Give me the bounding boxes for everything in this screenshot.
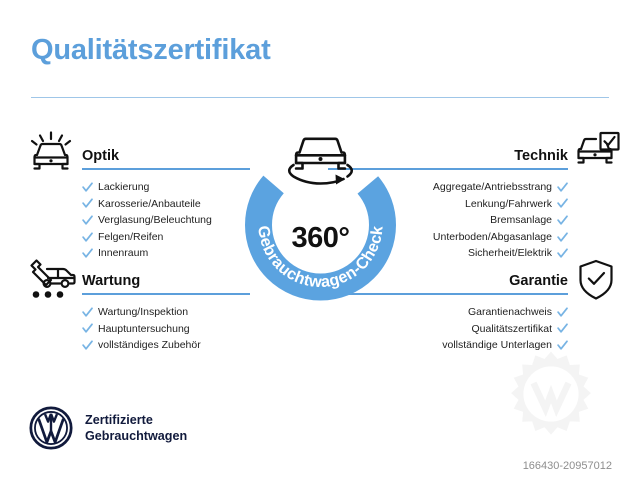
list-item-label: Karosserie/Anbauteile [98, 196, 201, 213]
list-item-label: Garantienachweis [468, 304, 552, 321]
check-icon [557, 215, 568, 226]
check-icon [557, 340, 568, 351]
section-wartung-divider [82, 293, 250, 295]
check-icon [557, 307, 568, 318]
list-item: Verglasung/Beleuchtung [82, 212, 250, 229]
list-item: Wartung/Inspektion [82, 304, 250, 321]
check-icon [82, 215, 93, 226]
list-item-label: Aggregate/Antriebsstrang [433, 179, 552, 196]
list-item-label: Bremsanlage [490, 212, 552, 229]
list-item-label: Hauptuntersuchung [98, 321, 190, 338]
car-checkbox-icon [569, 131, 621, 178]
list-item: Felgen/Reifen [82, 229, 250, 246]
check-icon [82, 198, 93, 209]
check-icon [82, 248, 93, 259]
brand-line-1: Zertifizierte [85, 413, 153, 427]
section-optik: Optik Lackierung Karosserie/Anbauteile V… [82, 144, 250, 262]
title-divider [31, 97, 609, 98]
check-icon [82, 323, 93, 334]
list-item-label: Verglasung/Beleuchtung [98, 212, 212, 229]
check-icon [82, 340, 93, 351]
list-item: Karosserie/Anbauteile [82, 196, 250, 213]
list-item-label: Qualitätszertifikat [471, 321, 552, 338]
section-optik-header: Optik [82, 144, 250, 170]
shield-check-icon [576, 258, 616, 307]
section-wartung-list: Wartung/Inspektion Hauptuntersuchung vol… [82, 304, 250, 354]
list-item: Innenraum [82, 245, 250, 262]
car-front-lights-icon [27, 131, 75, 178]
list-item-label: Sicherheit/Elektrik [468, 245, 552, 262]
section-garantie-title: Garantie [509, 273, 568, 289]
volkswagen-brand-block: Zertifizierte Gebrauchtwagen [29, 406, 187, 450]
section-wartung-header: Wartung [82, 269, 250, 295]
check-icon [557, 182, 568, 193]
section-wartung: Wartung Wartung/Inspektion Hauptuntersuc… [82, 269, 250, 354]
badge-360-gebrauchtwagen-check: Gebrauchtwagen-Check 360° [233, 120, 408, 310]
reference-id: 166430-20957012 [523, 460, 612, 472]
check-icon [557, 323, 568, 334]
section-wartung-title: Wartung [82, 273, 140, 289]
check-icon [557, 198, 568, 209]
list-item: Hauptuntersuchung [82, 321, 250, 338]
list-item: vollständiges Zubehör [82, 337, 250, 354]
list-item: vollständige Unterlagen [328, 337, 568, 354]
section-optik-title: Optik [82, 148, 119, 164]
list-item-label: Lackierung [98, 179, 149, 196]
check-icon [557, 248, 568, 259]
section-technik-title: Technik [514, 148, 568, 164]
list-item-label: Innenraum [98, 245, 148, 262]
check-icon [82, 232, 93, 243]
check-icon [82, 182, 93, 193]
section-optik-list: Lackierung Karosserie/Anbauteile Verglas… [82, 179, 250, 262]
list-item-label: Wartung/Inspektion [98, 304, 188, 321]
watermark-logo [505, 348, 597, 440]
volkswagen-logo [29, 406, 73, 450]
check-icon [557, 232, 568, 243]
brand-line-2: Gebrauchtwagen [85, 429, 187, 443]
check-icon [82, 307, 93, 318]
brand-text: Zertifizierte Gebrauchtwagen [85, 412, 187, 444]
list-item-label: Felgen/Reifen [98, 229, 163, 246]
list-item-label: Lenkung/Fahrwerk [465, 196, 552, 213]
list-item: Qualitätszertifikat [328, 321, 568, 338]
page-title: Qualitätszertifikat [31, 34, 271, 67]
section-optik-divider [82, 168, 250, 170]
badge-360-label: 360° [233, 222, 408, 255]
section-garantie-list: Garantienachweis Qualitätszertifikat vol… [328, 304, 568, 354]
car-service-tool-icon [27, 257, 77, 306]
list-item-label: vollständige Unterlagen [442, 337, 552, 354]
list-item-label: vollständiges Zubehör [98, 337, 201, 354]
list-item: Lackierung [82, 179, 250, 196]
list-item-label: Unterboden/Abgasanlage [433, 229, 552, 246]
